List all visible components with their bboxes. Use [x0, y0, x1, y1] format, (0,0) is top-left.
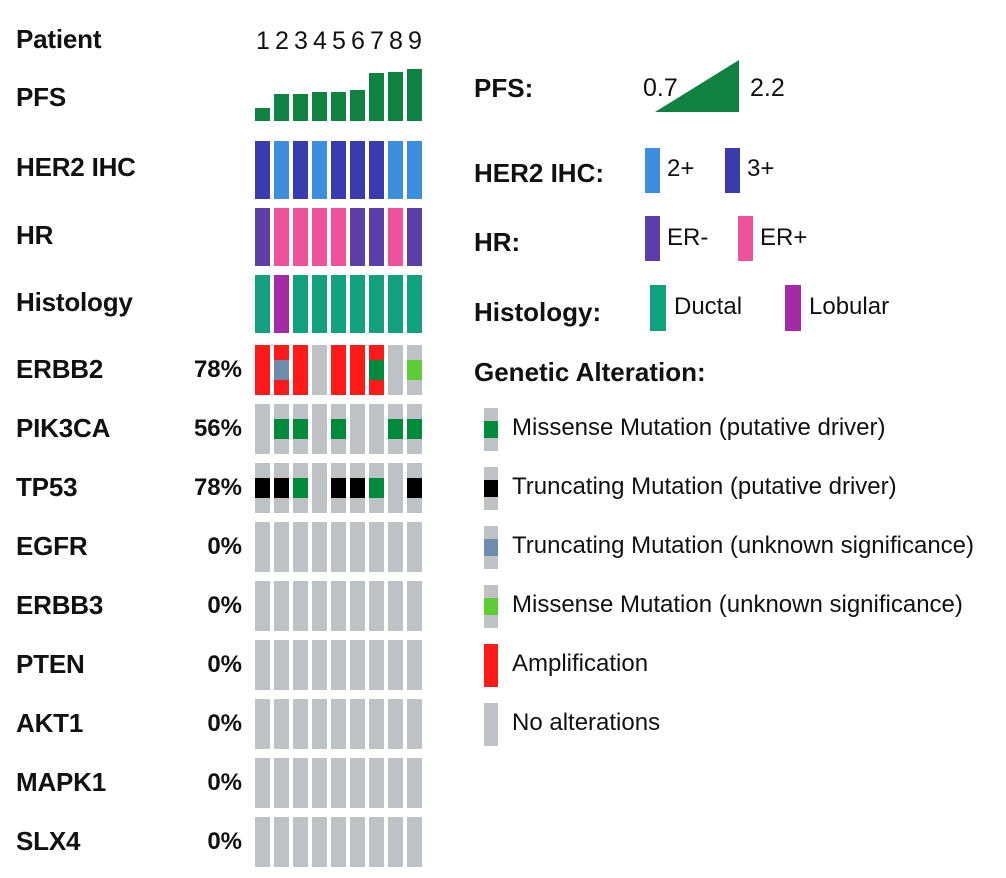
patient-id-3: 3 [291, 27, 311, 56]
alteration-cell-slx4-patient-8 [388, 817, 403, 867]
legend-title-pfs: PFS: [474, 73, 533, 104]
alteration-cell-tp53-patient-1 [255, 463, 270, 513]
alteration-cell-erbb2-patient-5 [331, 345, 346, 395]
clinical-cell-histology-patient-7 [369, 275, 384, 333]
alteration-cell-tp53-patient-8 [388, 463, 403, 513]
clinical-cell-her2-ihc-patient-3 [293, 141, 308, 199]
alteration-cell-slx4-patient-6 [350, 817, 365, 867]
legend-label-histology-lobular: Lobular [809, 293, 889, 321]
alteration-cell-erbb3-patient-9 [407, 581, 422, 631]
alteration-cell-mapk1-patient-9 [407, 758, 422, 808]
alteration-cell-slx4-patient-5 [331, 817, 346, 867]
alteration-cell-pik3ca-patient-8 [388, 404, 403, 454]
alteration-cell-pten-patient-9 [407, 640, 422, 690]
pfs-bar-patient-7 [369, 73, 384, 121]
alteration-cell-erbb2-patient-7 [369, 345, 384, 395]
alteration-band-missense-driver [369, 478, 384, 498]
alteration-cell-pik3ca-patient-6 [350, 404, 365, 454]
pfs-bar-patient-1 [255, 108, 270, 121]
clinical-cell-hr-patient-1 [255, 208, 270, 266]
page-title: Patient [16, 24, 101, 55]
alteration-cell-egfr-patient-4 [312, 522, 327, 572]
track-label-histology: Histology [16, 287, 133, 318]
alteration-cell-tp53-patient-2 [274, 463, 289, 513]
alteration-cell-erbb2-patient-1 [255, 345, 270, 395]
alteration-band-truncating-driver [255, 478, 270, 498]
legend-swatch-hr-er-pos [738, 216, 753, 261]
legend-band-genetic-1 [484, 480, 498, 497]
alteration-cell-akt1-patient-5 [331, 699, 346, 749]
alteration-cell-pik3ca-patient-4 [312, 404, 327, 454]
gene-percent-egfr: 0% [152, 533, 242, 561]
legend-pfs-max: 2.2 [750, 74, 785, 103]
legend-title-hr: HR: [474, 227, 520, 258]
clinical-cell-hr-patient-4 [312, 208, 327, 266]
clinical-cell-histology-patient-5 [331, 275, 346, 333]
legend-swatch-genetic-0 [484, 408, 498, 451]
clinical-cell-histology-patient-1 [255, 275, 270, 333]
legend-band-genetic-2 [484, 539, 498, 556]
alteration-cell-tp53-patient-4 [312, 463, 327, 513]
gene-label-erbb3: ERBB3 [16, 590, 103, 621]
alteration-cell-pten-patient-2 [274, 640, 289, 690]
legend-swatch-genetic-3 [484, 585, 498, 628]
patient-id-8: 8 [386, 27, 406, 56]
gene-label-slx4: SLX4 [16, 826, 80, 857]
track-label-hr: HR [16, 220, 53, 251]
patient-id-7: 7 [367, 27, 387, 56]
clinical-cell-hr-patient-7 [369, 208, 384, 266]
alteration-cell-slx4-patient-7 [369, 817, 384, 867]
alteration-cell-egfr-patient-5 [331, 522, 346, 572]
clinical-cell-hr-patient-5 [331, 208, 346, 266]
gene-percent-pik3ca: 56% [152, 415, 242, 443]
alteration-cell-pik3ca-patient-2 [274, 404, 289, 454]
legend-title-histology: Histology: [474, 297, 601, 328]
gene-label-akt1: AKT1 [16, 708, 83, 739]
alteration-cell-slx4-patient-9 [407, 817, 422, 867]
alteration-band-missense-driver [388, 419, 403, 439]
clinical-cell-her2-ihc-patient-8 [388, 141, 403, 199]
alteration-cell-egfr-patient-3 [293, 522, 308, 572]
alteration-cell-pten-patient-8 [388, 640, 403, 690]
legend-swatch-genetic-1 [484, 467, 498, 510]
alteration-cell-mapk1-patient-1 [255, 758, 270, 808]
alteration-cell-erbb3-patient-2 [274, 581, 289, 631]
alteration-cell-tp53-patient-3 [293, 463, 308, 513]
gene-label-tp53: TP53 [16, 472, 77, 503]
alteration-cell-mapk1-patient-5 [331, 758, 346, 808]
legend-swatch-her2-2+ [645, 148, 660, 193]
gene-label-pten: PTEN [16, 649, 85, 680]
pfs-bar-patient-2 [274, 94, 289, 121]
alteration-cell-egfr-patient-9 [407, 522, 422, 572]
alteration-cell-akt1-patient-7 [369, 699, 384, 749]
legend-label-hr-er-neg: ER- [667, 224, 708, 252]
legend-label-genetic-2: Truncating Mutation (unknown significanc… [512, 532, 974, 560]
alteration-cell-pten-patient-7 [369, 640, 384, 690]
clinical-cell-histology-patient-6 [350, 275, 365, 333]
alteration-band-missense-driver [274, 419, 289, 439]
alteration-cell-pten-patient-5 [331, 640, 346, 690]
legend-swatch-hr-er-neg [645, 216, 660, 261]
alteration-cell-akt1-patient-2 [274, 699, 289, 749]
alteration-cell-mapk1-patient-7 [369, 758, 384, 808]
alteration-cell-pik3ca-patient-3 [293, 404, 308, 454]
alteration-cell-mapk1-patient-6 [350, 758, 365, 808]
clinical-cell-hr-patient-6 [350, 208, 365, 266]
alteration-cell-erbb3-patient-1 [255, 581, 270, 631]
patient-id-1: 1 [253, 27, 273, 56]
legend-label-her2-3+: 3+ [747, 155, 774, 183]
alteration-cell-tp53-patient-9 [407, 463, 422, 513]
patient-id-2: 2 [272, 27, 292, 56]
alteration-cell-akt1-patient-6 [350, 699, 365, 749]
alteration-cell-erbb2-patient-8 [388, 345, 403, 395]
oncoprint-figure: Patient 123456789 PFSHER2 IHCHRHistology… [0, 0, 1006, 878]
gene-percent-pten: 0% [152, 651, 242, 679]
legend-label-genetic-5: No alterations [512, 709, 660, 737]
alteration-cell-pten-patient-6 [350, 640, 365, 690]
clinical-cell-her2-ihc-patient-5 [331, 141, 346, 199]
patient-id-5: 5 [329, 27, 349, 56]
alteration-cell-akt1-patient-4 [312, 699, 327, 749]
alteration-cell-pten-patient-3 [293, 640, 308, 690]
track-label-her2-ihc: HER2 IHC [16, 152, 136, 183]
alteration-cell-slx4-patient-4 [312, 817, 327, 867]
clinical-cell-her2-ihc-patient-6 [350, 141, 365, 199]
alteration-cell-tp53-patient-6 [350, 463, 365, 513]
alteration-band-truncating-driver [274, 478, 289, 498]
legend-label-genetic-3: Missense Mutation (unknown significance) [512, 591, 963, 619]
alteration-cell-pten-patient-1 [255, 640, 270, 690]
gene-label-egfr: EGFR [16, 531, 87, 562]
gene-percent-mapk1: 0% [152, 769, 242, 797]
legend-label-genetic-1: Truncating Mutation (putative driver) [512, 473, 897, 501]
legend-swatch-her2-3+ [725, 148, 740, 193]
alteration-cell-pik3ca-patient-7 [369, 404, 384, 454]
gene-label-erbb2: ERBB2 [16, 354, 103, 385]
alteration-cell-erbb3-patient-8 [388, 581, 403, 631]
alteration-cell-mapk1-patient-3 [293, 758, 308, 808]
clinical-cell-hr-patient-2 [274, 208, 289, 266]
alteration-cell-pik3ca-patient-1 [255, 404, 270, 454]
pfs-bar-patient-6 [350, 90, 365, 121]
alteration-cell-slx4-patient-3 [293, 817, 308, 867]
clinical-cell-histology-patient-3 [293, 275, 308, 333]
pfs-bar-patient-9 [407, 69, 422, 121]
clinical-cell-histology-patient-4 [312, 275, 327, 333]
clinical-cell-histology-patient-8 [388, 275, 403, 333]
alteration-cell-akt1-patient-3 [293, 699, 308, 749]
clinical-cell-her2-ihc-patient-9 [407, 141, 422, 199]
alteration-cell-erbb2-patient-9 [407, 345, 422, 395]
clinical-cell-hr-patient-8 [388, 208, 403, 266]
pfs-gradient-triangle-icon [655, 60, 739, 112]
clinical-cell-hr-patient-9 [407, 208, 422, 266]
clinical-cell-her2-ihc-patient-7 [369, 141, 384, 199]
alteration-cell-egfr-patient-7 [369, 522, 384, 572]
legend-title-her2: HER2 IHC: [474, 158, 604, 189]
alteration-band-truncating-driver [407, 478, 422, 498]
clinical-cell-hr-patient-3 [293, 208, 308, 266]
alteration-band-truncating-driver [331, 478, 346, 498]
legend-band-genetic-0 [484, 421, 498, 438]
legend-label-her2-2+: 2+ [667, 155, 694, 183]
pfs-bar-patient-3 [293, 94, 308, 121]
alteration-band-missense-driver [331, 419, 346, 439]
alteration-cell-egfr-patient-8 [388, 522, 403, 572]
patient-id-4: 4 [310, 27, 330, 56]
legend-label-hr-er-pos: ER+ [760, 224, 807, 252]
alteration-cell-pten-patient-4 [312, 640, 327, 690]
alteration-band-missense-driver [369, 360, 384, 380]
alteration-cell-erbb3-patient-6 [350, 581, 365, 631]
alteration-cell-egfr-patient-6 [350, 522, 365, 572]
alteration-band-missense-driver [407, 419, 422, 439]
alteration-band-missense-unknown [407, 360, 422, 380]
alteration-cell-tp53-patient-5 [331, 463, 346, 513]
legend-band-genetic-3 [484, 598, 498, 615]
track-label-pfs: PFS [16, 82, 66, 113]
alteration-cell-pik3ca-patient-5 [331, 404, 346, 454]
clinical-cell-her2-ihc-patient-4 [312, 141, 327, 199]
alteration-band-missense-driver [293, 419, 308, 439]
legend-label-genetic-4: Amplification [512, 650, 648, 678]
alteration-cell-akt1-patient-8 [388, 699, 403, 749]
legend-swatch-histology-ductal [650, 285, 666, 331]
gene-percent-erbb2: 78% [152, 356, 242, 384]
alteration-cell-erbb2-patient-6 [350, 345, 365, 395]
gene-label-mapk1: MAPK1 [16, 767, 106, 798]
clinical-cell-histology-patient-2 [274, 275, 289, 333]
alteration-cell-mapk1-patient-4 [312, 758, 327, 808]
alteration-band-missense-driver [293, 478, 308, 498]
pfs-bar-patient-8 [388, 72, 403, 121]
alteration-cell-tp53-patient-7 [369, 463, 384, 513]
legend-swatch-genetic-2 [484, 526, 498, 569]
alteration-cell-mapk1-patient-2 [274, 758, 289, 808]
clinical-cell-her2-ihc-patient-1 [255, 141, 270, 199]
alteration-cell-erbb2-patient-4 [312, 345, 327, 395]
patient-id-9: 9 [405, 27, 425, 56]
gene-percent-slx4: 0% [152, 828, 242, 856]
legend-swatch-histology-lobular [785, 285, 801, 331]
pfs-bar-patient-5 [331, 92, 346, 121]
alteration-cell-egfr-patient-2 [274, 522, 289, 572]
alteration-cell-erbb3-patient-7 [369, 581, 384, 631]
alteration-cell-erbb3-patient-4 [312, 581, 327, 631]
patient-id-6: 6 [348, 27, 368, 56]
legend-label-histology-ductal: Ductal [674, 293, 742, 321]
alteration-cell-erbb3-patient-3 [293, 581, 308, 631]
legend-swatch-genetic-4 [484, 644, 498, 687]
alteration-cell-mapk1-patient-8 [388, 758, 403, 808]
clinical-cell-histology-patient-9 [407, 275, 422, 333]
legend-swatch-genetic-5 [484, 703, 498, 746]
alteration-cell-egfr-patient-1 [255, 522, 270, 572]
gene-percent-tp53: 78% [152, 474, 242, 502]
alteration-cell-erbb3-patient-5 [331, 581, 346, 631]
alteration-cell-pik3ca-patient-9 [407, 404, 422, 454]
gene-percent-akt1: 0% [152, 710, 242, 738]
alteration-cell-erbb2-patient-2 [274, 345, 289, 395]
clinical-cell-her2-ihc-patient-2 [274, 141, 289, 199]
alteration-cell-erbb2-patient-3 [293, 345, 308, 395]
pfs-bar-patient-4 [312, 92, 327, 121]
alteration-band-truncating-unknown [274, 360, 289, 380]
alteration-cell-slx4-patient-2 [274, 817, 289, 867]
alteration-cell-slx4-patient-1 [255, 817, 270, 867]
alteration-cell-akt1-patient-1 [255, 699, 270, 749]
gene-label-pik3ca: PIK3CA [16, 413, 110, 444]
gene-percent-erbb3: 0% [152, 592, 242, 620]
alteration-band-truncating-driver [350, 478, 365, 498]
alteration-cell-akt1-patient-9 [407, 699, 422, 749]
legend-title-genetic-alteration: Genetic Alteration: [474, 357, 706, 388]
legend-label-genetic-0: Missense Mutation (putative driver) [512, 414, 885, 442]
